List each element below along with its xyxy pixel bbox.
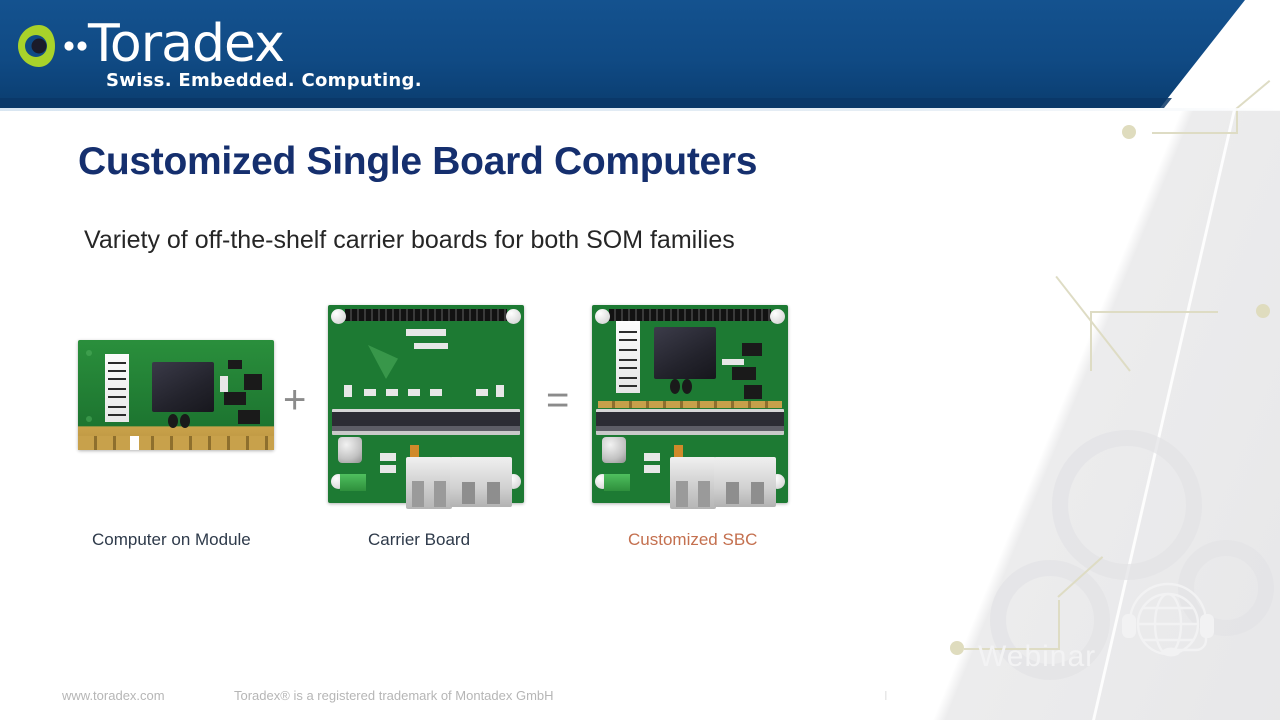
- toradex-logo[interactable]: Toradex Swiss. Embedded. Computing.: [14, 18, 284, 70]
- silkscreen-mark: [86, 350, 92, 356]
- smd-pad: [430, 389, 442, 396]
- usb-connector: [406, 457, 452, 509]
- smd-pad: [364, 389, 376, 396]
- circuit-trace: [1090, 311, 1092, 371]
- som-edge-connector: [598, 401, 782, 408]
- page-subtitle: Variety of off-the-shelf carrier boards …: [84, 226, 735, 255]
- globe-headset-icon: [1116, 580, 1220, 672]
- silkscreen-mark: [86, 416, 92, 422]
- smd-pad: [722, 359, 744, 365]
- equals-operator: =: [546, 380, 569, 420]
- som-soc-chip: [152, 362, 214, 412]
- smd-pad: [386, 389, 398, 396]
- som-board-photo: [78, 340, 274, 450]
- footer-trademark-text: Toradex® is a registered trademark of Mo…: [234, 688, 554, 703]
- circuit-trace: [1055, 276, 1130, 372]
- toradex-leaf-logo-icon: [14, 22, 88, 70]
- smd-component: [220, 376, 228, 392]
- figure-row: + =: [0, 295, 900, 555]
- circuit-trace: [964, 648, 1060, 650]
- caption-customized-sbc: Customized SBC: [628, 530, 757, 550]
- smd-component: [238, 410, 260, 424]
- webinar-watermark: Webinar: [978, 582, 1228, 702]
- som-soc-chip: [654, 327, 716, 379]
- page-title: Customized Single Board Computers: [78, 140, 757, 184]
- smd-component: [228, 360, 242, 369]
- electrolytic-capacitor: [602, 437, 626, 463]
- silkscreen-graphic: [368, 345, 398, 379]
- circuit-trace: [1236, 110, 1238, 134]
- carrier-board-photo: [328, 305, 524, 503]
- footer-page-mark: I: [884, 688, 888, 703]
- circuit-trace: [1058, 600, 1060, 650]
- silkscreen-mark: [414, 343, 448, 349]
- smd-component: [732, 367, 756, 380]
- som-connector-notch: [130, 436, 139, 450]
- silkscreen-mark: [406, 329, 446, 336]
- smd-capacitor: [168, 414, 178, 428]
- gear-shape-icon: [1178, 540, 1274, 636]
- mounting-standoff: [506, 309, 521, 324]
- circuit-node: [950, 641, 964, 655]
- circuit-node: [1122, 125, 1136, 139]
- circuit-trace: [1152, 132, 1238, 134]
- diagonal-band-edge: [1085, 110, 1236, 720]
- power-connector: [340, 474, 366, 491]
- power-connector: [604, 474, 630, 491]
- smd-pad: [496, 385, 504, 397]
- diagonal-band: [856, 110, 1280, 720]
- header-dark-band: [0, 98, 1280, 108]
- som-edge-connector: [78, 436, 274, 450]
- smd-pad: [408, 389, 420, 396]
- mounting-standoff: [595, 309, 610, 324]
- smd-component: [380, 465, 396, 473]
- electrolytic-capacitor: [338, 437, 362, 463]
- webinar-watermark-label: Webinar: [978, 640, 1096, 674]
- expansion-header: [345, 309, 507, 321]
- sodimm-socket: [596, 409, 784, 435]
- caption-carrier-board: Carrier Board: [368, 530, 470, 550]
- mounting-standoff: [331, 309, 346, 324]
- ethernet-connector: [450, 457, 512, 507]
- smd-component: [380, 453, 396, 461]
- smd-component: [644, 465, 660, 473]
- som-sticker-label: [616, 321, 640, 393]
- smd-capacitor: [180, 414, 190, 428]
- smd-pad: [476, 389, 488, 396]
- plus-operator: +: [283, 380, 306, 420]
- gear-shape-icon: [990, 560, 1110, 680]
- ethernet-connector: [714, 457, 776, 507]
- circuit-trace: [1090, 311, 1218, 313]
- circuit-trace: [1057, 556, 1103, 598]
- brand-tagline: Swiss. Embedded. Computing.: [106, 70, 422, 91]
- smd-pad: [344, 385, 352, 397]
- gear-shape-icon: [1052, 430, 1202, 580]
- slide-canvas: Webinar: [0, 0, 1280, 720]
- sodimm-socket: [332, 409, 520, 435]
- customized-sbc-photo: [592, 305, 788, 503]
- usb-connector: [670, 457, 716, 509]
- circuit-node: [1256, 304, 1270, 318]
- header-underline: [0, 108, 1280, 111]
- som-sticker-label: [105, 354, 129, 422]
- expansion-header: [609, 309, 771, 321]
- smd-component: [244, 374, 262, 390]
- footer-website-link[interactable]: www.toradex.com: [62, 688, 165, 703]
- smd-capacitor: [670, 379, 680, 394]
- smd-capacitor: [682, 379, 692, 394]
- caption-computer-on-module: Computer on Module: [92, 530, 251, 550]
- mounting-standoff: [770, 309, 785, 324]
- brand-name: Toradex: [88, 18, 284, 70]
- smd-component: [644, 453, 660, 461]
- smd-component: [744, 385, 762, 399]
- smd-component: [742, 343, 762, 356]
- slide-header: Toradex Swiss. Embedded. Computing.: [0, 0, 1280, 108]
- smd-component: [224, 392, 246, 405]
